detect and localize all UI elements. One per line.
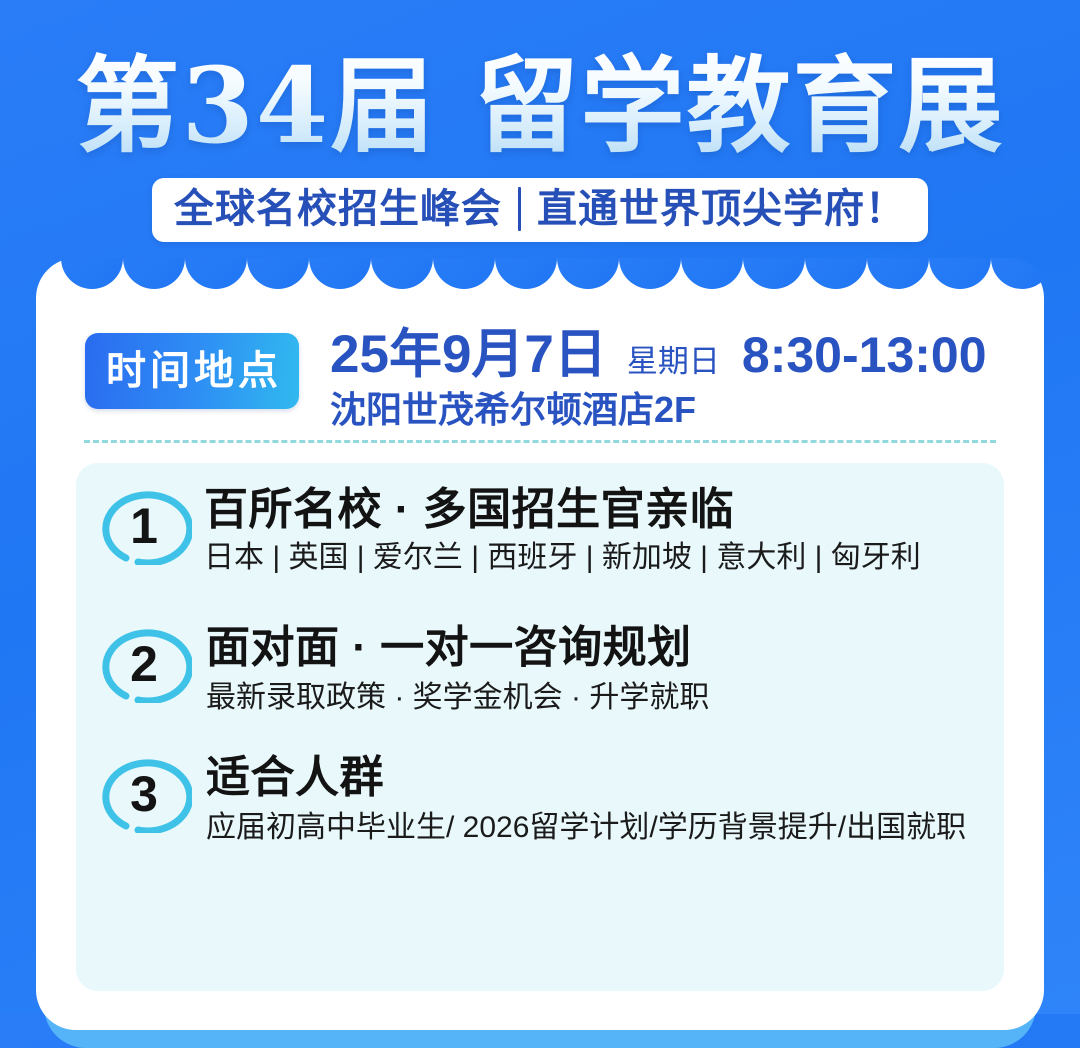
number-ring-icon: 3: [96, 755, 192, 833]
item-subtitle: 日本 | 英国 | 爱尔兰 | 西班牙 | 新加坡 | 意大利 | 匈牙利: [204, 540, 921, 576]
event-date-row: 25年9月7日 星期日 8:30-13:00: [330, 328, 987, 381]
item-title: 百所名校 · 多国招生官亲临: [204, 485, 921, 534]
scalloped-edge-icon: [36, 258, 1044, 292]
dashed-divider: [84, 440, 996, 443]
event-hours: 8:30-13:00: [742, 330, 987, 380]
item-body: 百所名校 · 多国招生官亲临 日本 | 英国 | 爱尔兰 | 西班牙 | 新加坡…: [204, 485, 921, 576]
subtitle-banner: 全球名校招生峰会 直通世界顶尖学府！: [152, 178, 928, 242]
highlights-panel: 1 百所名校 · 多国招生官亲临 日本 | 英国 | 爱尔兰 | 西班牙 | 新…: [76, 463, 1004, 991]
item-body: 适合人群 应届初高中毕业生/ 2026留学计划/学历背景提升/出国就职: [206, 753, 966, 846]
subtitle-left-text: 全球名校招生峰会: [174, 189, 502, 229]
event-weekday: 星期日: [627, 346, 720, 377]
subtitle-text: 全球名校招生峰会 直通世界顶尖学府！: [174, 187, 906, 231]
item-title: 面对面 · 一对一咨询规划: [206, 623, 709, 672]
number-ring-icon: 1: [96, 487, 192, 565]
time-place-details: 25年9月7日 星期日 8:30-13:00 沈阳世茂希尔顿酒店2F: [330, 328, 987, 430]
time-place-row: 时间地点 25年9月7日 星期日 8:30-13:00 沈阳世茂希尔顿酒店2F: [36, 328, 1044, 448]
info-card: 时间地点 25年9月7日 星期日 8:30-13:00 沈阳世茂希尔顿酒店2F: [36, 258, 1044, 1030]
poster-header: 第34届 留学教育展 全球名校招生峰会 直通世界顶尖学府！: [0, 0, 1080, 258]
item-title: 适合人群: [206, 753, 966, 802]
subtitle-divider-icon: [518, 187, 521, 231]
item-subtitle: 最新录取政策 · 奖学金机会 · 升学就职: [206, 680, 709, 716]
page-title: 第34届 留学教育展: [0, 48, 1080, 164]
time-place-badge-label: 时间地点: [102, 351, 282, 391]
subtitle-right-text: 直通世界顶尖学府！: [537, 189, 906, 229]
event-venue: 沈阳世茂希尔顿酒店2F: [330, 390, 987, 430]
time-place-badge: 时间地点: [85, 333, 299, 409]
event-date: 25年9月7日: [330, 328, 607, 381]
number-ring-icon: 2: [96, 625, 192, 703]
item-number: 1: [96, 487, 192, 565]
poster-root: 第34届 留学教育展 全球名校招生峰会 直通世界顶尖学府！: [0, 0, 1080, 1014]
item-number: 3: [96, 755, 192, 833]
item-subtitle: 应届初高中毕业生/ 2026留学计划/学历背景提升/出国就职: [206, 810, 966, 846]
item-number: 2: [96, 625, 192, 703]
item-body: 面对面 · 一对一咨询规划 最新录取政策 · 奖学金机会 · 升学就职: [206, 623, 709, 716]
